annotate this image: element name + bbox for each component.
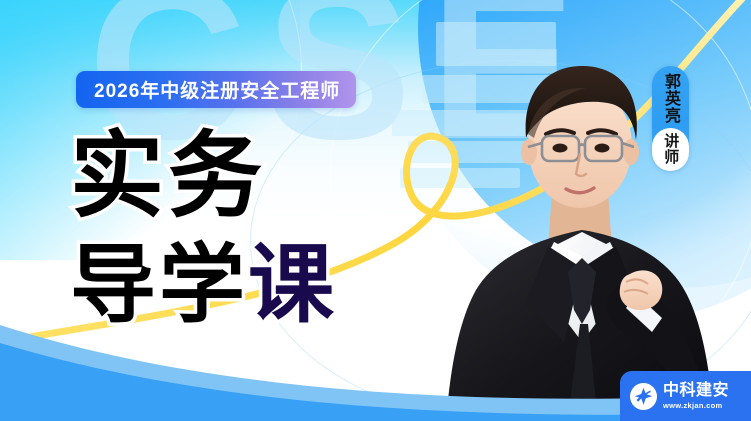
instructor-role-chip: 讲师 <box>652 128 689 171</box>
headline-primary: 实务 <box>70 130 266 222</box>
course-promo-banner: CSE <box>0 0 751 421</box>
instructor-name: 郭英亮 <box>660 73 681 124</box>
brand-url: www.zkjan.com <box>663 402 729 410</box>
instructor-badge: 郭英亮 讲师 <box>652 66 689 171</box>
headline-secondary-tail: 课 <box>248 237 337 333</box>
zkjan-star-logo-icon <box>630 383 657 410</box>
course-category-label: 2026年中级注册安全工程师 <box>94 76 340 103</box>
brand-name: 中科建安 <box>663 383 729 399</box>
headline-secondary: 导学课 <box>70 243 337 327</box>
headline-secondary-main: 导学 <box>70 237 248 333</box>
course-category-badge: 2026年中级注册安全工程师 <box>76 71 356 108</box>
brand-text: 中科建安 www.zkjan.com <box>663 383 729 410</box>
brand-logo-block[interactable]: 中科建安 www.zkjan.com <box>620 371 751 421</box>
instructor-role: 讲师 <box>661 133 681 165</box>
